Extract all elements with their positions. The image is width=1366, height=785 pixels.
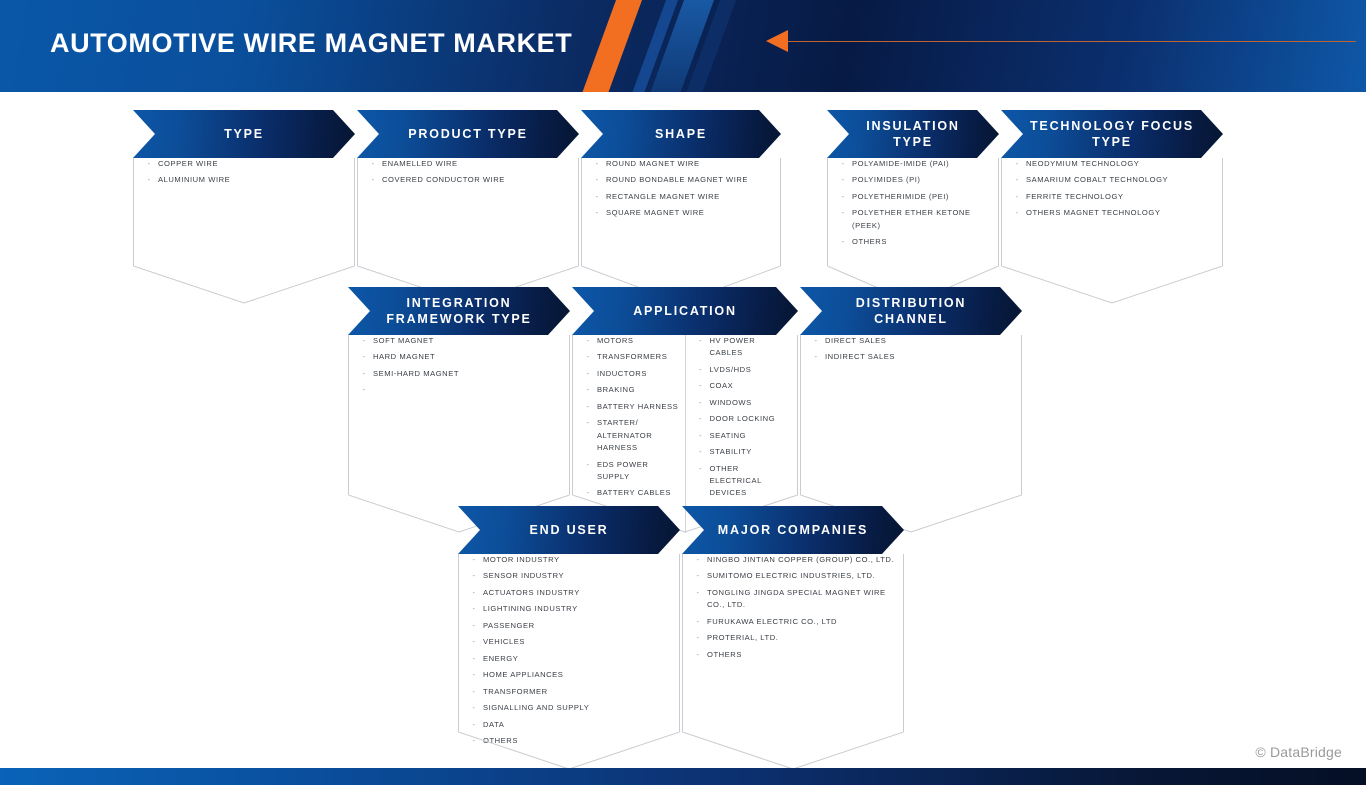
list-item: -TONGLING JINGDA SPECIAL MAGNET WIRE CO.… — [689, 587, 897, 612]
bullet-dash-icon: - — [465, 686, 483, 698]
banner-label: END USER — [504, 522, 635, 538]
bullet-dash-icon: - — [692, 446, 710, 458]
card-technology-focus-type: -NEODYMIUM TECHNOLOGY-SAMARIUM COBALT TE… — [1001, 158, 1223, 266]
list-item: -LVDS/HDS — [692, 364, 792, 376]
banner-type[interactable]: TYPE — [133, 110, 355, 158]
list-column: -MOTOR INDUSTRY-SENSOR INDUSTRY-ACTUATOR… — [459, 554, 679, 752]
list-column: -ENAMELLED WIRE-COVERED CONDUCTOR WIRE — [358, 158, 578, 191]
list-item-label: SIGNALLING AND SUPPLY — [483, 702, 673, 714]
bullet-dash-icon: - — [692, 335, 710, 347]
card-bottom-point — [682, 732, 904, 770]
bullet-dash-icon: - — [834, 174, 852, 186]
list-item: -WINDOWS — [692, 397, 792, 409]
list-item-label: STARTER/ ALTERNATOR HARNESS — [597, 417, 679, 454]
list-item-label: ENERGY — [483, 653, 673, 665]
bullet-dash-icon: - — [1008, 158, 1026, 170]
list-item: -ENAMELLED WIRE — [364, 158, 572, 170]
list-item: -OTHERS MAGNET TECHNOLOGY — [1008, 207, 1216, 219]
list-item-label: ALUMINIUM WIRE — [158, 174, 348, 186]
group-major-companies: MAJOR COMPANIES -NINGBO JINTIAN COPPER (… — [682, 506, 904, 770]
bullet-dash-icon: - — [692, 430, 710, 442]
list-item: -COPPER WIRE — [140, 158, 348, 170]
list-item: -INDUCTORS — [579, 368, 679, 380]
list-item: -LIGHTINING INDUSTRY — [465, 603, 673, 615]
list-item-label: LIGHTINING INDUSTRY — [483, 603, 673, 615]
list-columns: -ROUND MAGNET WIRE-ROUND BONDABLE MAGNET… — [582, 158, 780, 224]
list-item-label: BATTERY HARNESS — [597, 401, 679, 413]
list-columns: -POLYAMIDE-IMIDE (PAI)-POLYIMIDES (PI)-P… — [828, 158, 998, 253]
bullet-dash-icon: - — [1008, 207, 1026, 219]
bullet-dash-icon: - — [579, 384, 597, 396]
list-item: -OTHERS — [689, 649, 897, 661]
bullet-dash-icon: - — [588, 174, 606, 186]
list-item-label: SENSOR INDUSTRY — [483, 570, 673, 582]
list-item: -DATA — [465, 719, 673, 731]
list-item-label: HV POWER CABLES — [710, 335, 792, 360]
bullet-dash-icon: - — [807, 351, 825, 363]
bullet-dash-icon: - — [834, 158, 852, 170]
list-column: -POLYAMIDE-IMIDE (PAI)-POLYIMIDES (PI)-P… — [828, 158, 998, 253]
banner-label: INSULATION TYPE — [827, 118, 999, 150]
banner-application[interactable]: APPLICATION — [572, 287, 798, 335]
list-item: -ROUND BONDABLE MAGNET WIRE — [588, 174, 774, 186]
bullet-dash-icon: - — [834, 236, 852, 248]
copyright-label: © DataBridge — [1255, 744, 1342, 760]
list-item: -PASSENGER — [465, 620, 673, 632]
list-item-label: OTHERS — [852, 236, 992, 248]
page-header: AUTOMOTIVE WIRE MAGNET MARKET — [0, 0, 1366, 92]
bullet-dash-icon: - — [692, 413, 710, 425]
bullet-dash-icon: - — [579, 335, 597, 347]
bullet-dash-icon: - — [465, 587, 483, 599]
list-item-label: INDIRECT SALES — [825, 351, 1015, 363]
left-arrow-icon — [766, 30, 788, 52]
list-column: -COPPER WIRE-ALUMINIUM WIRE — [134, 158, 354, 191]
list-item-label: POLYETHER ETHER KETONE (PEEK) — [852, 207, 992, 232]
bullet-dash-icon: - — [140, 158, 158, 170]
banner-technology-focus-type[interactable]: TECHNOLOGY FOCUS TYPE — [1001, 110, 1223, 158]
list-item: -MOTORS — [579, 335, 679, 347]
list-item: -HV POWER CABLES — [692, 335, 792, 360]
bullet-dash-icon: - — [364, 174, 382, 186]
list-item-label: FERRITE TECHNOLOGY — [1026, 191, 1216, 203]
list-item-label: OTHERS — [707, 649, 897, 661]
list-item-label: NEODYMIUM TECHNOLOGY — [1026, 158, 1216, 170]
list-item: -POLYETHERIMIDE (PEI) — [834, 191, 992, 203]
bullet-dash-icon: - — [465, 620, 483, 632]
list-column: -NINGBO JINTIAN COPPER (GROUP) CO., LTD.… — [683, 554, 903, 665]
list-item-label: PASSENGER — [483, 620, 673, 632]
list-item: -SOFT MAGNET — [355, 335, 563, 347]
group-application: APPLICATION -MOTORS-TRANSFORMERS-INDUCTO… — [572, 287, 798, 533]
banner-label: INTEGRATION FRAMEWORK TYPE — [348, 295, 570, 327]
list-item-label: POLYIMIDES (PI) — [852, 174, 992, 186]
banner-end-user[interactable]: END USER — [458, 506, 680, 554]
list-item-label: HOME APPLIANCES — [483, 669, 673, 681]
bullet-dash-icon: - — [689, 570, 707, 582]
card-bottom-point — [458, 732, 680, 770]
list-item-label: MOTOR INDUSTRY — [483, 554, 673, 566]
list-columns: -COPPER WIRE-ALUMINIUM WIRE — [134, 158, 354, 191]
list-columns: -ENAMELLED WIRE-COVERED CONDUCTOR WIRE — [358, 158, 578, 191]
list-item: -DIRECT SALES — [807, 335, 1015, 347]
list-item: -ENERGY — [465, 653, 673, 665]
list-item: -NINGBO JINTIAN COPPER (GROUP) CO., LTD. — [689, 554, 897, 566]
list-item-label: SEMI-HARD MAGNET — [373, 368, 563, 380]
bullet-dash-icon: - — [689, 632, 707, 644]
bullet-dash-icon: - — [588, 207, 606, 219]
list-columns: -NEODYMIUM TECHNOLOGY-SAMARIUM COBALT TE… — [1002, 158, 1222, 224]
list-item-label: ACTUATORS INDUSTRY — [483, 587, 673, 599]
group-shape: SHAPE -ROUND MAGNET WIRE-ROUND BONDABLE … — [581, 110, 781, 304]
group-integration-framework-type: INTEGRATION FRAMEWORK TYPE -SOFT MAGNET-… — [348, 287, 570, 533]
list-item: -PROTERIAL, LTD. — [689, 632, 897, 644]
list-item: -POLYETHER ETHER KETONE (PEEK) — [834, 207, 992, 232]
list-item-label: HARD MAGNET — [373, 351, 563, 363]
list-item-label: LVDS/HDS — [710, 364, 792, 376]
list-item: -SEMI-HARD MAGNET — [355, 368, 563, 380]
list-item-label: RECTANGLE MAGNET WIRE — [606, 191, 774, 203]
list-item-label: BRAKING — [597, 384, 679, 396]
bullet-dash-icon: - — [689, 554, 707, 566]
banner-distribution-channel[interactable]: DISTRIBUTION CHANNEL — [800, 287, 1022, 335]
list-item-label: NINGBO JINTIAN COPPER (GROUP) CO., LTD. — [707, 554, 897, 566]
group-technology-focus-type: TECHNOLOGY FOCUS TYPE -NEODYMIUM TECHNOL… — [1001, 110, 1223, 304]
list-item: -BATTERY HARNESS — [579, 401, 679, 413]
list-item: -POLYIMIDES (PI) — [834, 174, 992, 186]
list-item: -FERRITE TECHNOLOGY — [1008, 191, 1216, 203]
list-item: -INDIRECT SALES — [807, 351, 1015, 363]
bullet-dash-icon: - — [1008, 174, 1026, 186]
list-column: -SOFT MAGNET-HARD MAGNET-SEMI-HARD MAGNE… — [349, 335, 569, 401]
list-column: -NEODYMIUM TECHNOLOGY-SAMARIUM COBALT TE… — [1002, 158, 1222, 224]
bullet-dash-icon: - — [579, 401, 597, 413]
list-item: -BRAKING — [579, 384, 679, 396]
page-title: AUTOMOTIVE WIRE MAGNET MARKET — [50, 28, 572, 59]
list-column: -DIRECT SALES-INDIRECT SALES — [801, 335, 1021, 368]
card-bottom-point — [133, 266, 355, 304]
list-item-label: DATA — [483, 719, 673, 731]
bullet-dash-icon: - — [355, 335, 373, 347]
list-item: -FURUKAWA ELECTRIC CO., LTD — [689, 616, 897, 628]
bullet-dash-icon: - — [355, 351, 373, 363]
list-item: -TRANSFORMERS — [579, 351, 679, 363]
list-columns: -DIRECT SALES-INDIRECT SALES — [801, 335, 1021, 368]
footer-bar — [0, 768, 1366, 785]
list-item: -ACTUATORS INDUSTRY — [465, 587, 673, 599]
list-item-label: VEHICLES — [483, 636, 673, 648]
card-major-companies: -NINGBO JINTIAN COPPER (GROUP) CO., LTD.… — [682, 554, 904, 732]
bullet-dash-icon: - — [579, 351, 597, 363]
list-item: -VEHICLES — [465, 636, 673, 648]
list-item: -MOTOR INDUSTRY — [465, 554, 673, 566]
list-item: -OTHERS — [834, 236, 992, 248]
group-end-user: END USER -MOTOR INDUSTRY-SENSOR INDUSTRY… — [458, 506, 680, 770]
banner-label: APPLICATION — [607, 303, 763, 319]
list-columns: -NINGBO JINTIAN COPPER (GROUP) CO., LTD.… — [683, 554, 903, 665]
banner-label: SHAPE — [629, 126, 733, 142]
bullet-dash-icon: - — [465, 570, 483, 582]
list-item: -SIGNALLING AND SUPPLY — [465, 702, 673, 714]
bullet-dash-icon: - — [588, 191, 606, 203]
banner-insulation-type[interactable]: INSULATION TYPE — [827, 110, 999, 158]
list-item: -POLYAMIDE-IMIDE (PAI) — [834, 158, 992, 170]
bullet-dash-icon: - — [588, 158, 606, 170]
bullet-dash-icon: - — [689, 587, 707, 599]
list-item-label: ENAMELLED WIRE — [382, 158, 572, 170]
card-end-user: -MOTOR INDUSTRY-SENSOR INDUSTRY-ACTUATOR… — [458, 554, 680, 732]
group-insulation-type: INSULATION TYPE -POLYAMIDE-IMIDE (PAI)-P… — [827, 110, 999, 304]
list-item-label: COVERED CONDUCTOR WIRE — [382, 174, 572, 186]
list-item: - — [355, 384, 563, 396]
bullet-dash-icon: - — [689, 649, 707, 661]
banner-label: PRODUCT TYPE — [382, 126, 554, 142]
list-item: -COAX — [692, 380, 792, 392]
list-item-label: COPPER WIRE — [158, 158, 348, 170]
card-insulation-type: -POLYAMIDE-IMIDE (PAI)-POLYIMIDES (PI)-P… — [827, 158, 999, 266]
list-item: -SENSOR INDUSTRY — [465, 570, 673, 582]
bullet-dash-icon: - — [465, 653, 483, 665]
group-product-type: PRODUCT TYPE -ENAMELLED WIRE-COVERED CON… — [357, 110, 579, 304]
bullet-dash-icon: - — [692, 463, 710, 475]
bullet-dash-icon: - — [807, 335, 825, 347]
bullet-dash-icon: - — [465, 669, 483, 681]
list-item-label: FURUKAWA ELECTRIC CO., LTD — [707, 616, 897, 628]
banner-label: MAJOR COMPANIES — [692, 522, 894, 538]
bullet-dash-icon: - — [465, 702, 483, 714]
list-item-label: SQUARE MAGNET WIRE — [606, 207, 774, 219]
list-item: -SEATING — [692, 430, 792, 442]
bullet-dash-icon: - — [465, 636, 483, 648]
list-item: -ALUMINIUM WIRE — [140, 174, 348, 186]
bullet-dash-icon: - — [355, 368, 373, 380]
card-shape: -ROUND MAGNET WIRE-ROUND BONDABLE MAGNET… — [581, 158, 781, 266]
list-item-label: TRANSFORMER — [483, 686, 673, 698]
list-item-label: DOOR LOCKING — [710, 413, 792, 425]
arrow-line — [786, 41, 1356, 42]
group-distribution-channel: DISTRIBUTION CHANNEL -DIRECT SALES-INDIR… — [800, 287, 1022, 533]
list-item-label: OTHERS MAGNET TECHNOLOGY — [1026, 207, 1216, 219]
list-item: -NEODYMIUM TECHNOLOGY — [1008, 158, 1216, 170]
bullet-dash-icon: - — [689, 616, 707, 628]
list-item: -HOME APPLIANCES — [465, 669, 673, 681]
list-item: -STABILITY — [692, 446, 792, 458]
list-item: -SAMARIUM COBALT TECHNOLOGY — [1008, 174, 1216, 186]
bullet-dash-icon: - — [692, 380, 710, 392]
bullet-dash-icon: - — [692, 397, 710, 409]
list-column: -ROUND MAGNET WIRE-ROUND BONDABLE MAGNET… — [582, 158, 780, 224]
banner-label: TECHNOLOGY FOCUS TYPE — [1001, 118, 1223, 150]
list-item: -RECTANGLE MAGNET WIRE — [588, 191, 774, 203]
group-type: TYPE -COPPER WIRE-ALUMINIUM WIRE — [133, 110, 355, 304]
list-item: -SQUARE MAGNET WIRE — [588, 207, 774, 219]
list-columns: -MOTOR INDUSTRY-SENSOR INDUSTRY-ACTUATOR… — [459, 554, 679, 752]
list-item: -HARD MAGNET — [355, 351, 563, 363]
list-item-label: COAX — [710, 380, 792, 392]
list-item-label: STABILITY — [710, 446, 792, 458]
list-item-label: ROUND MAGNET WIRE — [606, 158, 774, 170]
list-item-label: TRANSFORMERS — [597, 351, 679, 363]
list-item-label: INDUCTORS — [597, 368, 679, 380]
card-product-type: -ENAMELLED WIRE-COVERED CONDUCTOR WIRE — [357, 158, 579, 266]
list-item: -EDS POWER SUPPLY — [579, 459, 679, 484]
card-application: -MOTORS-TRANSFORMERS-INDUCTORS-BRAKING-B… — [572, 335, 798, 495]
list-item: -TRANSFORMER — [465, 686, 673, 698]
banner-shape[interactable]: SHAPE — [581, 110, 781, 158]
bullet-dash-icon: - — [1008, 191, 1026, 203]
list-item: -DOOR LOCKING — [692, 413, 792, 425]
bullet-dash-icon: - — [834, 191, 852, 203]
list-item-label: POLYAMIDE-IMIDE (PAI) — [852, 158, 992, 170]
bullet-dash-icon: - — [465, 719, 483, 731]
list-item-label: PROTERIAL, LTD. — [707, 632, 897, 644]
card-type: -COPPER WIRE-ALUMINIUM WIRE — [133, 158, 355, 266]
card-distribution-channel: -DIRECT SALES-INDIRECT SALES — [800, 335, 1022, 495]
list-item: -SUMITOMO ELECTRIC INDUSTRIES, LTD. — [689, 570, 897, 582]
card-integration-framework-type: -SOFT MAGNET-HARD MAGNET-SEMI-HARD MAGNE… — [348, 335, 570, 495]
list-item-label: TONGLING JINGDA SPECIAL MAGNET WIRE CO.,… — [707, 587, 897, 612]
list-item-label: SAMARIUM COBALT TECHNOLOGY — [1026, 174, 1216, 186]
bullet-dash-icon: - — [355, 384, 373, 396]
banner-integration-framework-type[interactable]: INTEGRATION FRAMEWORK TYPE — [348, 287, 570, 335]
bullet-dash-icon: - — [465, 554, 483, 566]
list-columns: -SOFT MAGNET-HARD MAGNET-SEMI-HARD MAGNE… — [349, 335, 569, 401]
list-item-label: ROUND BONDABLE MAGNET WIRE — [606, 174, 774, 186]
list-item-label: MOTORS — [597, 335, 679, 347]
bullet-dash-icon: - — [579, 368, 597, 380]
bullet-dash-icon: - — [465, 603, 483, 615]
list-item-label: WINDOWS — [710, 397, 792, 409]
list-item-label: DIRECT SALES — [825, 335, 1015, 347]
bullet-dash-icon: - — [579, 417, 597, 429]
list-item-label: SOFT MAGNET — [373, 335, 563, 347]
banner-label: DISTRIBUTION CHANNEL — [800, 295, 1022, 327]
list-item-label: SEATING — [710, 430, 792, 442]
list-item-label: POLYETHERIMIDE (PEI) — [852, 191, 992, 203]
bullet-dash-icon: - — [834, 207, 852, 219]
list-item: -STARTER/ ALTERNATOR HARNESS — [579, 417, 679, 454]
banner-major-companies[interactable]: MAJOR COMPANIES — [682, 506, 904, 554]
list-item-label: SUMITOMO ELECTRIC INDUSTRIES, LTD. — [707, 570, 897, 582]
list-item-label: EDS POWER SUPPLY — [597, 459, 679, 484]
list-item: -ROUND MAGNET WIRE — [588, 158, 774, 170]
bullet-dash-icon: - — [692, 364, 710, 376]
bullet-dash-icon: - — [579, 459, 597, 471]
card-bottom-point — [1001, 266, 1223, 304]
bullet-dash-icon: - — [140, 174, 158, 186]
banner-label: TYPE — [198, 126, 290, 142]
banner-product-type[interactable]: PRODUCT TYPE — [357, 110, 579, 158]
bullet-dash-icon: - — [364, 158, 382, 170]
list-item: -COVERED CONDUCTOR WIRE — [364, 174, 572, 186]
